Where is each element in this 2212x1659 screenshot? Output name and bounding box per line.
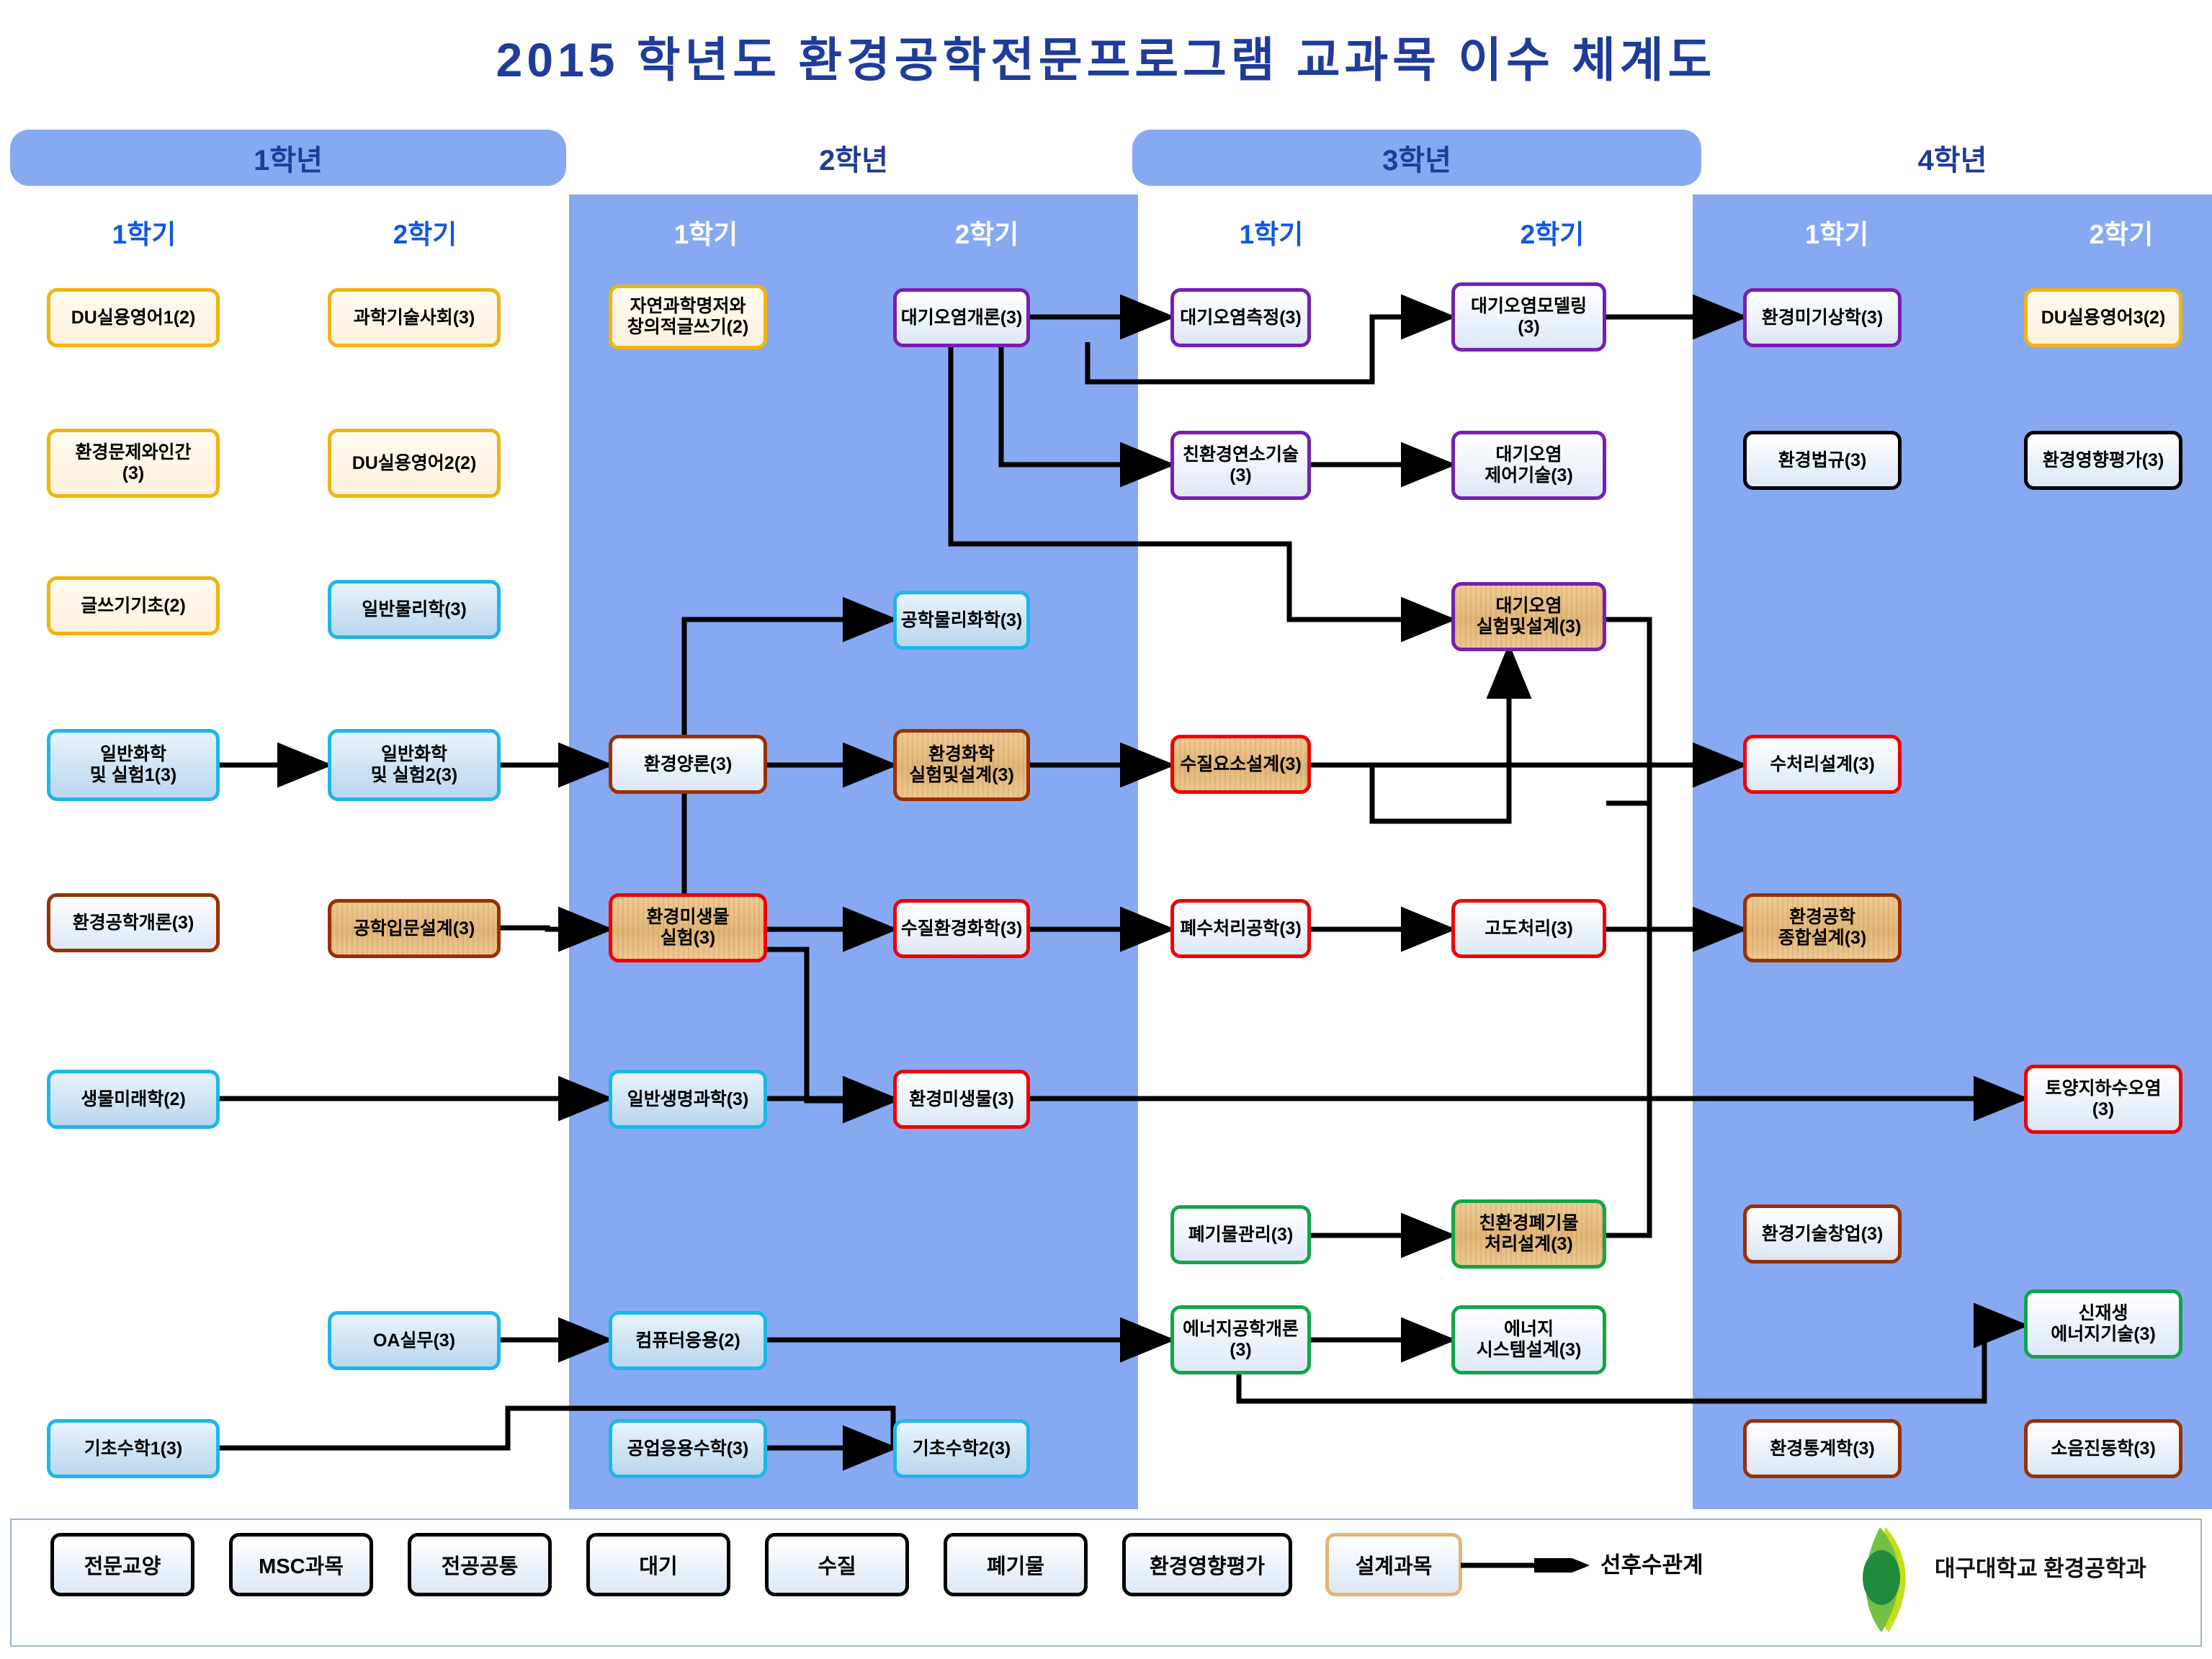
course-box[interactable]: 일반물리학(3) (328, 580, 501, 639)
course-box[interactable]: 일반생명과학(3) (609, 1070, 767, 1129)
course-box[interactable]: 에너지 시스템설계(3) (1451, 1305, 1606, 1374)
legend-item-common: 전공공통 (408, 1533, 552, 1596)
course-box[interactable]: 환경공학개론(3) (47, 893, 220, 952)
university-logo-text: 대구대학교 환경공학과 (1935, 1550, 2146, 1583)
semester-label-y3s1: 1학기 (1152, 213, 1390, 251)
course-box[interactable]: 환경영향평가(3) (2024, 431, 2182, 490)
course-box[interactable]: 대기오염개론(3) (893, 288, 1030, 347)
course-box[interactable]: 생물미래학(2) (47, 1070, 220, 1129)
year-header-3: 3학년 (1132, 130, 1701, 186)
course-box[interactable]: 일반화학 및 실험1(3) (47, 729, 220, 801)
course-box[interactable]: 환경미기상학(3) (1743, 288, 1902, 347)
course-box[interactable]: 에너지공학개론 (3) (1170, 1305, 1311, 1374)
course-box[interactable]: 기초수학1(3) (47, 1419, 220, 1478)
course-box[interactable]: 친환경연소기술 (3) (1170, 431, 1311, 500)
semester-label-y4s2: 2학기 (2002, 213, 2212, 251)
course-box[interactable]: 환경미생물 실험(3) (609, 893, 767, 962)
course-box[interactable]: 일반화학 및 실험2(3) (328, 729, 501, 801)
course-box[interactable]: 수처리설계(3) (1743, 735, 1902, 794)
course-box[interactable]: 자연과학명저와 창의적글쓰기(2) (609, 285, 767, 349)
course-box[interactable]: DU실용영어1(2) (47, 288, 220, 347)
course-box[interactable]: 고도처리(3) (1451, 899, 1606, 958)
course-box[interactable]: 공학물리화학(3) (893, 591, 1030, 650)
course-box[interactable]: 폐기물관리(3) (1170, 1205, 1311, 1264)
course-box[interactable]: 수질환경화학(3) (893, 899, 1030, 958)
year-header-2: 2학년 (569, 130, 1138, 186)
course-box[interactable]: 대기오염 제어기술(3) (1451, 431, 1606, 500)
course-box[interactable]: 기초수학2(3) (893, 1419, 1030, 1478)
course-box[interactable]: 친환경폐기물 처리설계(3) (1451, 1199, 1606, 1269)
course-box[interactable]: 환경법규(3) (1743, 431, 1902, 490)
course-box[interactable]: 과학기술사회(3) (328, 288, 501, 347)
course-box[interactable]: 토양지하수오염 (3) (2024, 1065, 2182, 1134)
year-header-1: 1학년 (10, 130, 566, 186)
legend-item-water: 수질 (765, 1533, 909, 1596)
course-box[interactable]: 환경문제와인간 (3) (47, 429, 220, 498)
course-box[interactable]: 폐수처리공학(3) (1170, 899, 1311, 958)
legend-item-msc: MSC과목 (229, 1533, 373, 1596)
course-box[interactable]: 신재생 에너지기술(3) (2024, 1289, 2182, 1359)
course-box[interactable]: 환경화학 실험및설계(3) (893, 729, 1030, 801)
course-box[interactable]: 컴퓨터응용(2) (609, 1311, 767, 1370)
course-box[interactable]: 수질요소설계(3) (1170, 735, 1311, 794)
university-logo-icon (1844, 1526, 1923, 1634)
semester-label-y4s1: 1학기 (1718, 213, 1956, 251)
course-box[interactable]: DU실용영어3(2) (2024, 288, 2182, 347)
course-box[interactable]: 환경기술창업(3) (1743, 1204, 1902, 1264)
course-box[interactable]: 공학입문설계(3) (328, 899, 501, 958)
page-title: 2015 학년도 환경공학전문프로그램 교과목 이수 체계도 (0, 22, 2212, 91)
semester-label-y1s1: 1학기 (25, 213, 263, 251)
curriculum-flowchart-page: 2015 학년도 환경공학전문프로그램 교과목 이수 체계도 1학년 2학년 3… (0, 0, 2212, 1659)
semester-label-y2s1: 1학기 (587, 213, 825, 251)
course-box[interactable]: OA실무(3) (328, 1311, 501, 1370)
course-box[interactable]: 환경미생물(3) (893, 1070, 1030, 1129)
course-box[interactable]: 대기오염 실험및설계(3) (1451, 582, 1606, 651)
legend-item-design: 설계과목 (1325, 1533, 1462, 1596)
semester-label-y3s2: 2학기 (1433, 213, 1671, 251)
course-box[interactable]: 대기오염모델링 (3) (1451, 282, 1606, 352)
legend-item-eia: 환경영향평가 (1122, 1533, 1292, 1596)
semester-label-y1s2: 2학기 (306, 213, 544, 251)
course-box[interactable]: DU실용영어2(2) (328, 429, 501, 498)
course-box[interactable]: 소음진동학(3) (2024, 1419, 2182, 1478)
semester-label-y2s2: 2학기 (868, 213, 1106, 251)
legend-item-gyoyang: 전문교양 (50, 1533, 194, 1596)
legend-item-waste: 폐기물 (944, 1533, 1088, 1596)
legend-arrow-label: 선후수관계 (1600, 1547, 1703, 1579)
course-box[interactable]: 공업응용수학(3) (609, 1419, 767, 1478)
prerequisite-arrow-icon (1461, 1558, 1598, 1573)
year-header-4: 4학년 (1693, 130, 2212, 186)
course-box[interactable]: 환경양론(3) (609, 735, 767, 794)
course-box[interactable]: 환경통계학(3) (1743, 1419, 1902, 1478)
course-box[interactable]: 글쓰기기초(2) (47, 576, 220, 635)
course-box[interactable]: 환경공학 종합설계(3) (1743, 893, 1902, 962)
legend-item-air: 대기 (586, 1533, 730, 1596)
course-box[interactable]: 대기오염측정(3) (1170, 288, 1311, 347)
